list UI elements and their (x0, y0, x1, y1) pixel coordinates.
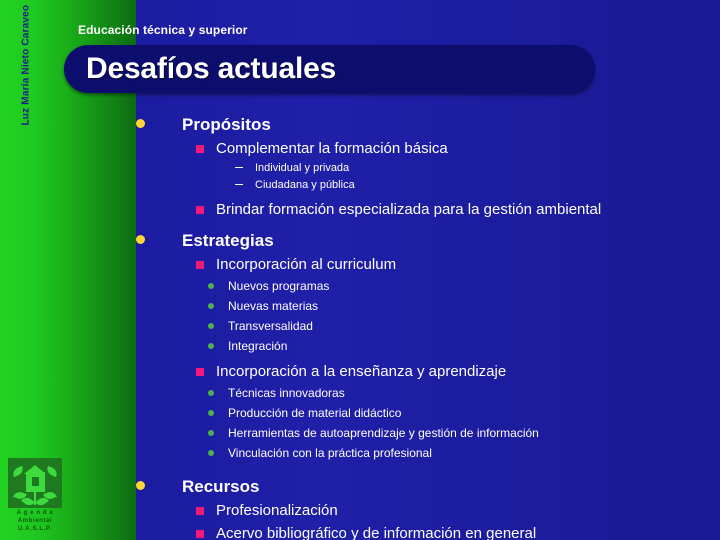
spacer (136, 467, 720, 474)
bullet-dash-icon (235, 167, 243, 168)
bullet-dot-yellow-icon (136, 481, 145, 490)
spacer (136, 221, 720, 228)
bullet-square-pink-icon (196, 261, 204, 269)
outline-subitem-label: Ciudadana y pública (255, 177, 720, 194)
outline-subitem: Técnicas innovadoras (136, 383, 720, 403)
outline-section-heading: Propósitos (136, 112, 720, 137)
logo-window-shape (32, 477, 39, 486)
outline-subitem: Producción de material didáctico (136, 403, 720, 423)
outline-section-heading-label: Propósitos (182, 112, 720, 137)
logo-caption-line-3: U.A.S.L.P. (8, 525, 62, 533)
bullet-dot-green-icon (208, 390, 214, 396)
logo-caption-line-2: Ambiental (8, 517, 62, 525)
bullet-dot-green-icon (208, 343, 214, 349)
logo-caption-line-1: A g e n d a (8, 509, 62, 517)
outline-subitem: Transversalidad (136, 316, 720, 336)
outline-subitem-label: Vinculación con la práctica profesional (228, 443, 720, 463)
outline-subitem-label: Técnicas innovadoras (228, 383, 720, 403)
bullet-dot-green-icon (208, 303, 214, 309)
outline-subitem: Individual y privada (136, 160, 720, 177)
outline-subitem-label: Transversalidad (228, 316, 720, 336)
outline-item-label: Complementar la formación básica (216, 137, 720, 160)
outline-subitem-label: Integración (228, 336, 720, 356)
bullet-square-pink-icon (196, 530, 204, 538)
bullet-dot-yellow-icon (136, 119, 145, 128)
outline-subitem: Ciudadana y pública (136, 177, 720, 194)
bullet-dot-green-icon (208, 430, 214, 436)
outline-subitem-label: Nuevas materias (228, 296, 720, 316)
outline-item: Brindar formación especializada para la … (136, 198, 720, 221)
logo-leaf-icon (45, 466, 59, 477)
logo-mark-icon (8, 458, 62, 508)
outline-subitem: Integración (136, 336, 720, 356)
bullet-dot-green-icon (208, 410, 214, 416)
bullet-dot-green-icon (208, 323, 214, 329)
bullet-square-pink-icon (196, 368, 204, 376)
outline-subitem-label: Producción de material didáctico (228, 403, 720, 423)
slide: Luz María Nieto Caraveo Educación técnic… (0, 0, 720, 540)
bullet-square-pink-icon (196, 145, 204, 153)
outline-item: Profesionalización (136, 499, 720, 522)
bullet-dot-yellow-icon (136, 235, 145, 244)
outline-section-heading-label: Estrategias (182, 228, 720, 253)
content-outline: PropósitosComplementar la formación bási… (136, 112, 720, 540)
outline-item: Incorporación al curriculum (136, 253, 720, 276)
outline-subitem: Herramientas de autoaprendizaje y gestió… (136, 423, 720, 443)
outline-section-heading: Estrategias (136, 228, 720, 253)
outline-subitem: Nuevos programas (136, 276, 720, 296)
outline-item: Incorporación a la enseñanza y aprendiza… (136, 360, 720, 383)
outline-section-heading-label: Recursos (182, 474, 720, 499)
logo-caption: A g e n d a Ambiental U.A.S.L.P. (8, 509, 62, 533)
author-credit: Luz María Nieto Caraveo (21, 0, 32, 126)
outline-subitem: Nuevas materias (136, 296, 720, 316)
outline-subitem-label: Herramientas de autoaprendizaje y gestió… (228, 423, 720, 443)
outline-item-label: Incorporación al curriculum (216, 253, 720, 276)
outline-item-label: Incorporación a la enseñanza y aprendiza… (216, 360, 720, 383)
outline-subitem-label: Individual y privada (255, 160, 720, 177)
outline-subitem: Vinculación con la práctica profesional (136, 443, 720, 463)
bullet-square-pink-icon (196, 206, 204, 214)
outline-item-label: Acervo bibliográfico y de información en… (216, 522, 720, 540)
title-banner: Desafíos actuales (64, 45, 595, 93)
slide-title: Desafíos actuales (86, 52, 336, 86)
outline-item: Acervo bibliográfico y de información en… (136, 522, 720, 540)
outline-subitem-label: Nuevos programas (228, 276, 720, 296)
agenda-ambiental-logo: A g e n d a Ambiental U.A.S.L.P. (8, 458, 62, 534)
bullet-square-pink-icon (196, 507, 204, 515)
logo-leaf-icon (11, 466, 25, 477)
outline-item: Complementar la formación básica (136, 137, 720, 160)
bullet-dash-icon (235, 184, 243, 185)
outline-item-label: Profesionalización (216, 499, 720, 522)
slide-subtitle: Educación técnica y superior (78, 23, 248, 37)
outline-section-heading: Recursos (136, 474, 720, 499)
bullet-dot-green-icon (208, 450, 214, 456)
outline-item-label: Brindar formación especializada para la … (216, 198, 720, 221)
bullet-dot-green-icon (208, 283, 214, 289)
